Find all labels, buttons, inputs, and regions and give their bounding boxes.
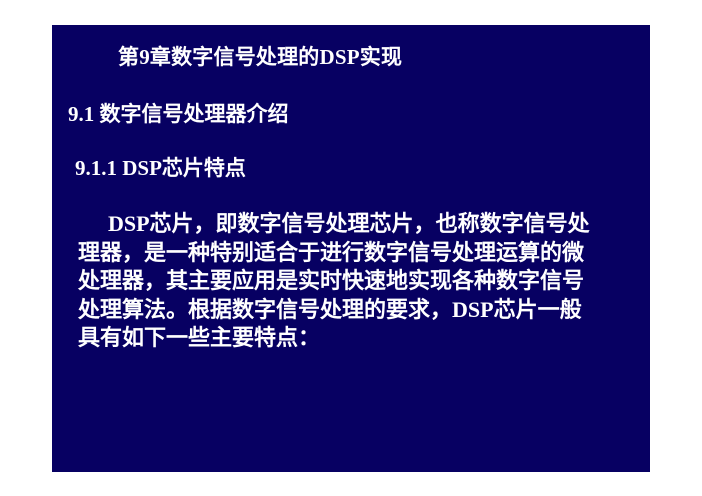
slide-canvas: 第9章数字信号处理的DSP实现 9.1 数字信号处理器介绍 9.1.1 DSP芯… — [0, 0, 702, 496]
body-line: 理器，是一种特别适合于进行数字信号处理运算的微 — [78, 239, 638, 268]
body-line: 具有如下一些主要特点： — [78, 324, 638, 353]
body-line: 处理算法。根据数字信号处理的要求，DSP芯片一般 — [78, 296, 638, 325]
body-line: 处理器，其主要应用是实时快速地实现各种数字信号 — [78, 267, 638, 296]
presentation-slide: 第9章数字信号处理的DSP实现 9.1 数字信号处理器介绍 9.1.1 DSP芯… — [52, 25, 650, 472]
subsection-heading-9-1-1: 9.1.1 DSP芯片特点 — [75, 156, 246, 181]
body-paragraph: DSP芯片，即数字信号处理芯片，也称数字信号处 理器，是一种特别适合于进行数字信… — [78, 210, 638, 353]
body-line: DSP芯片，即数字信号处理芯片，也称数字信号处 — [78, 210, 638, 239]
section-heading-9-1: 9.1 数字信号处理器介绍 — [68, 102, 289, 127]
slide-title: 第9章数字信号处理的DSP实现 — [118, 45, 638, 70]
